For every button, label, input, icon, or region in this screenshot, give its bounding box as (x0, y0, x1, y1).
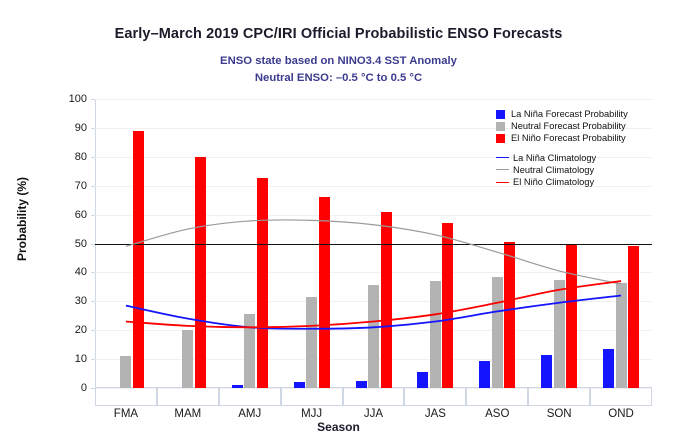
legend-entry: La Niña Forecast Probability (496, 108, 672, 120)
y-axis-tick-label: 20 (75, 324, 87, 336)
x-axis-tick-label: MAM (174, 408, 201, 420)
chart-legend: La Niña Forecast ProbabilityNeutral Fore… (496, 108, 672, 188)
y-axis-tick-label: 60 (75, 209, 87, 221)
legend-entry: El Niño Forecast Probability (496, 132, 672, 144)
y-axis-tick-label: 10 (75, 353, 87, 365)
legend-spacer (496, 145, 672, 152)
chart-subtitle-secondary: Neutral ENSO: –0.5 °C to 0.5 °C (0, 72, 677, 84)
legend-entry: Neutral Forecast Probability (496, 120, 672, 132)
y-axis-tick-label: 50 (75, 238, 87, 250)
x-axis-cells: FMAMAMAMJMJJJJAJASASOSONOND (95, 388, 652, 406)
y-axis-tick-label: 30 (75, 295, 87, 307)
legend-label: El Niño Climatology (513, 177, 594, 187)
y-axis-tick-label: 100 (69, 93, 87, 105)
x-axis-tick-label: MJJ (301, 408, 322, 420)
chart-title: Early–March 2019 CPC/IRI Official Probab… (0, 26, 677, 42)
x-axis-cell (157, 388, 219, 406)
x-axis-cell (466, 388, 528, 406)
y-axis-label: Probability (%) (15, 177, 29, 261)
legend-swatch-icon (496, 122, 505, 131)
x-axis-cell (590, 388, 652, 406)
x-axis-cell (281, 388, 343, 406)
climatology-curve (126, 220, 621, 284)
x-axis-label: Season (0, 420, 677, 434)
x-axis-cell (219, 388, 281, 406)
legend-entry: La Niña Climatology (496, 152, 672, 164)
y-axis-tick-label: 80 (75, 151, 87, 163)
legend-swatch-icon (496, 110, 505, 119)
enso-forecast-chart: Early–March 2019 CPC/IRI Official Probab… (0, 0, 677, 438)
legend-label: El Niño Forecast Probability (511, 133, 626, 143)
climatology-curve (126, 296, 621, 329)
x-axis-tick-label: FMA (114, 408, 138, 420)
legend-line-icon (496, 182, 509, 183)
x-axis-cell (404, 388, 466, 406)
x-axis-tick-label: OND (608, 408, 634, 420)
y-axis-tick-label: 40 (75, 266, 87, 278)
x-axis-cell (528, 388, 590, 406)
chart-subtitle-primary: ENSO state based on NINO3.4 SST Anomaly (0, 55, 677, 67)
x-axis-tick-label: JJA (364, 408, 383, 420)
x-axis-tick-label: JAS (425, 408, 446, 420)
y-axis-tick-label: 0 (81, 382, 87, 394)
legend-label: Neutral Forecast Probability (511, 121, 626, 131)
legend-line-icon (496, 157, 509, 158)
legend-label: Neutral Climatology (513, 165, 594, 175)
legend-entry: El Niño Climatology (496, 176, 672, 188)
legend-label: La Niña Climatology (513, 153, 596, 163)
y-axis-tick-label: 90 (75, 122, 87, 134)
legend-label: La Niña Forecast Probability (511, 109, 628, 119)
x-axis-cell (343, 388, 405, 406)
y-axis-tick-label: 70 (75, 180, 87, 192)
legend-swatch-icon (496, 134, 505, 143)
x-axis-tick-label: AMJ (238, 408, 261, 420)
x-axis-tick-label: SON (547, 408, 572, 420)
x-axis-cell (95, 388, 157, 406)
legend-entry: Neutral Climatology (496, 164, 672, 176)
legend-line-icon (496, 169, 509, 170)
x-axis-tick-label: ASO (485, 408, 509, 420)
